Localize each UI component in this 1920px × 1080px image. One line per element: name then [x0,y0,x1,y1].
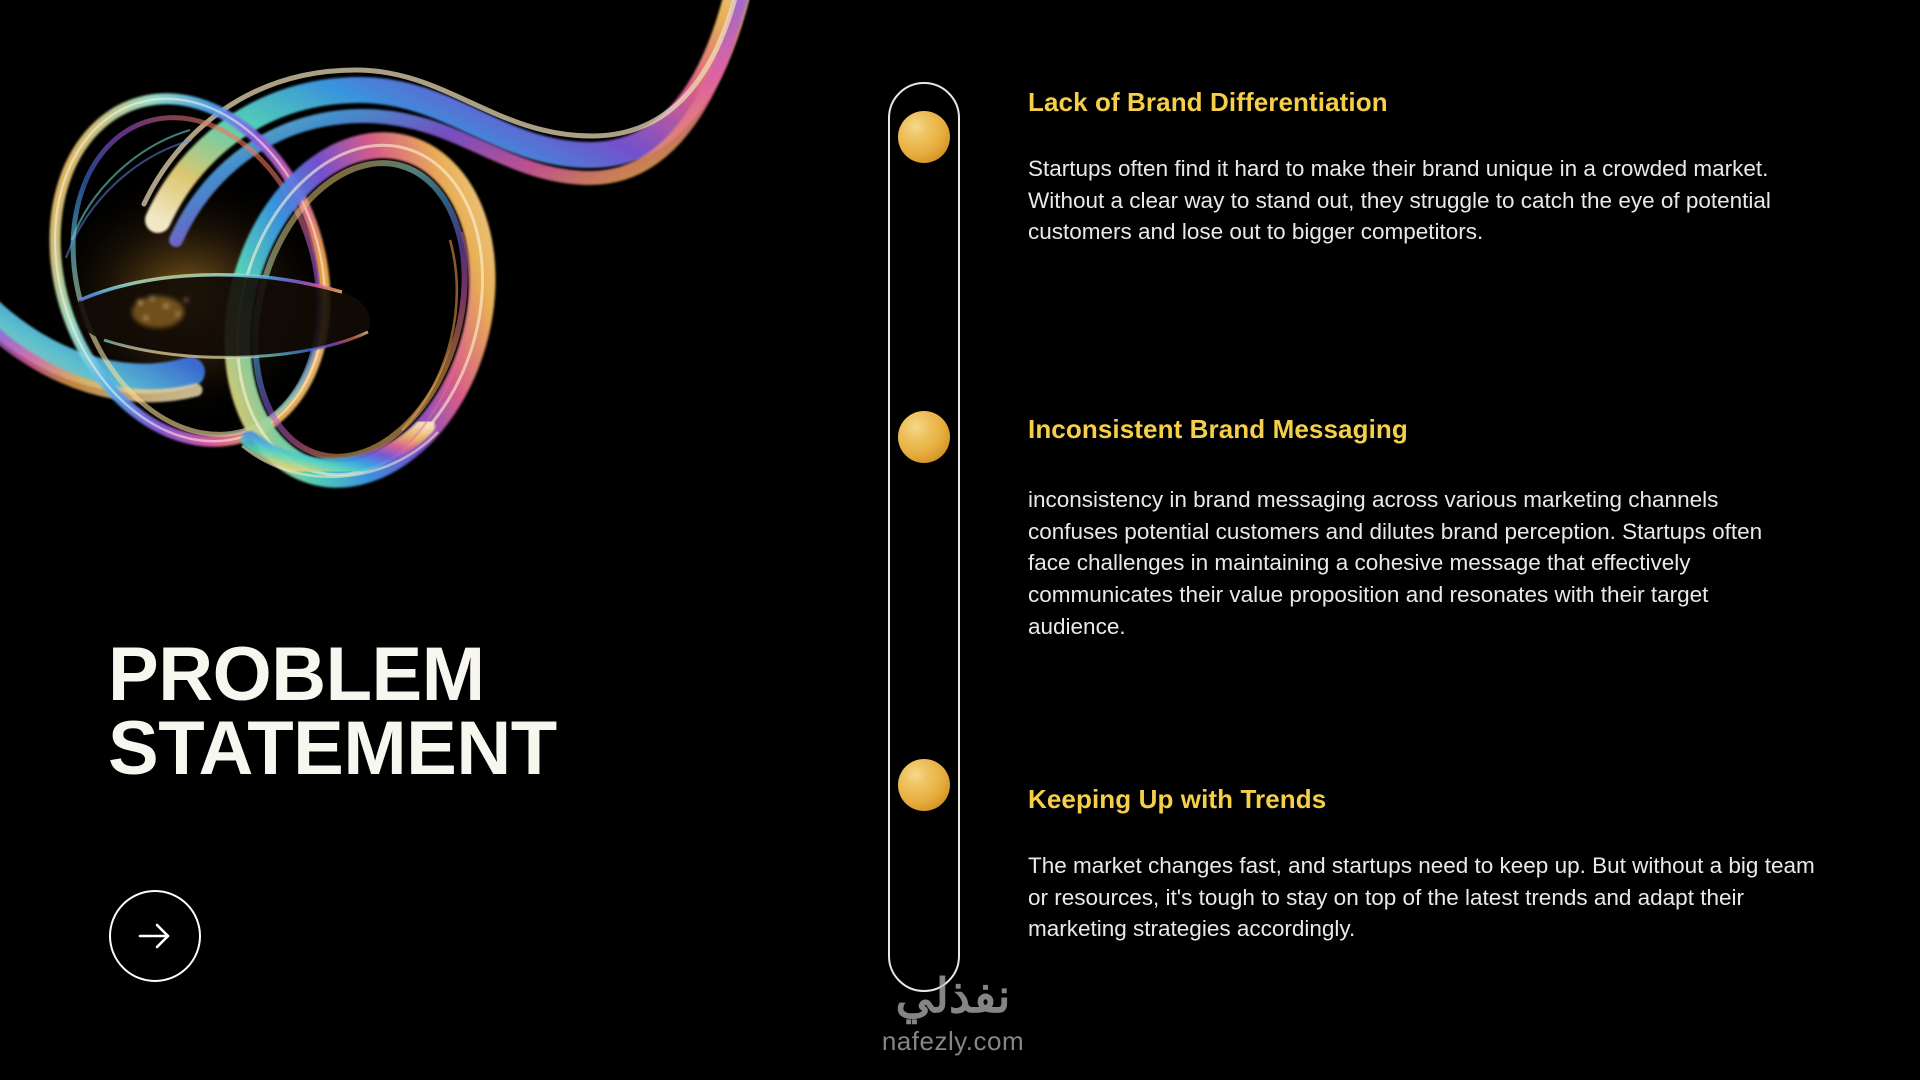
page-title: PROBLEM STATEMENT [108,638,748,785]
arrow-right-icon [132,913,178,959]
block-2-heading: Inconsistent Brand Messaging [1028,415,1838,444]
left-column: PROBLEM STATEMENT [108,0,808,1080]
content-column: Lack of Brand Differentiation Startups o… [1028,0,1860,1080]
problem-block-2: Inconsistent Brand Messaging inconsisten… [1028,415,1838,643]
timeline-node-3[interactable] [898,759,950,811]
next-button[interactable] [109,890,201,982]
page-title-line-2: STATEMENT [108,712,748,786]
block-1-body: Startups often find it hard to make thei… [1028,153,1828,249]
timeline-node-2[interactable] [898,411,950,463]
problem-block-3: Keeping Up with Trends The market change… [1028,785,1838,945]
block-3-heading: Keeping Up with Trends [1028,785,1838,814]
timeline-node-1[interactable] [898,111,950,163]
page-title-line-1: PROBLEM [108,638,748,712]
block-1-heading: Lack of Brand Differentiation [1028,88,1838,117]
problem-block-1: Lack of Brand Differentiation Startups o… [1028,88,1838,248]
block-3-body: The market changes fast, and startups ne… [1028,850,1828,946]
slide-root: PROBLEM STATEMENT Lack of Brand Differen… [0,0,1920,1080]
timeline-track [888,82,960,992]
block-2-body: inconsistency in brand messaging across … [1028,484,1788,644]
